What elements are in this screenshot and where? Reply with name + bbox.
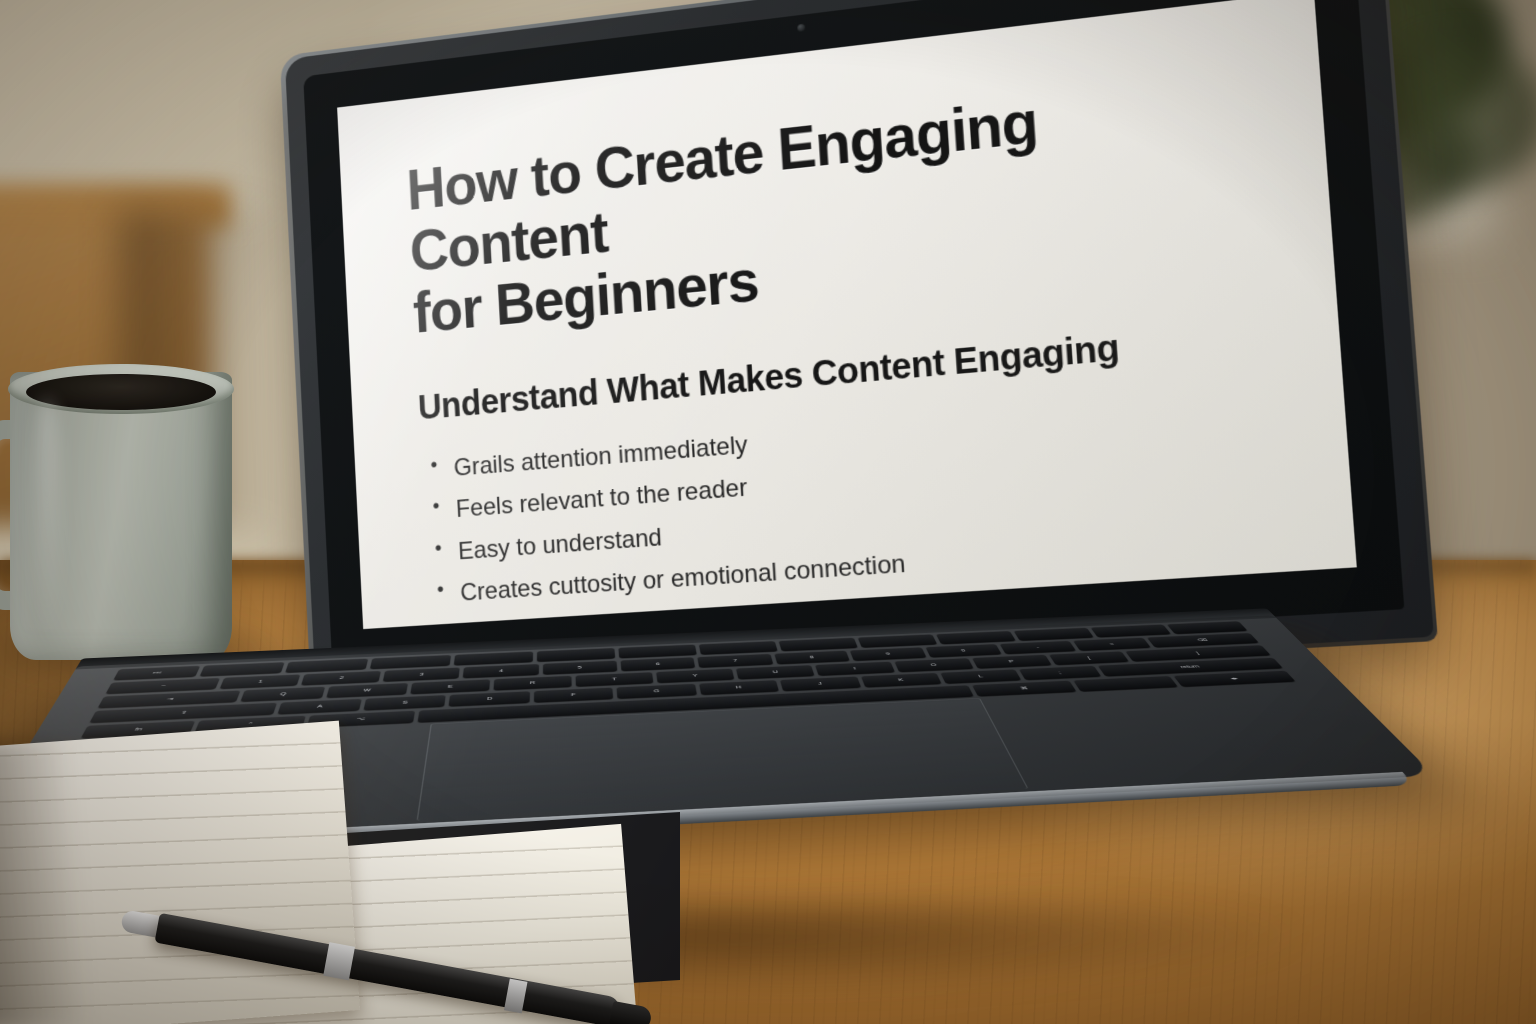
key[interactable]	[699, 641, 778, 655]
pen-end-cap	[609, 1001, 653, 1024]
key[interactable]: K	[860, 673, 941, 688]
key[interactable]	[1090, 624, 1171, 637]
key[interactable]: ;	[1019, 665, 1101, 680]
key[interactable]	[285, 658, 368, 672]
key[interactable]: D	[449, 691, 530, 707]
key[interactable]: Q	[241, 686, 325, 701]
key[interactable]	[537, 648, 615, 662]
key[interactable]: A	[277, 699, 362, 715]
key[interactable]: [	[1049, 651, 1130, 665]
key[interactable]: 9	[850, 647, 926, 661]
key[interactable]: -	[999, 641, 1076, 655]
key[interactable]	[936, 631, 1016, 644]
key[interactable]: 7	[698, 654, 774, 668]
key[interactable]: T	[576, 672, 654, 687]
key[interactable]	[618, 644, 696, 658]
key[interactable]: U	[736, 665, 815, 680]
key[interactable]	[1167, 621, 1248, 634]
laptop-screen[interactable]: How to Create Engaging Content for Begin…	[337, 0, 1357, 629]
slide-title: How to Create Engaging Content for Begin…	[405, 74, 1188, 345]
key[interactable]: S	[363, 695, 446, 711]
key[interactable]: 6	[621, 657, 696, 671]
key[interactable]	[779, 637, 858, 651]
key[interactable]: L	[940, 669, 1022, 684]
key[interactable]: Y	[656, 668, 734, 683]
key[interactable]: J	[780, 676, 861, 691]
key[interactable]: I	[815, 661, 894, 675]
key[interactable]: O	[894, 658, 974, 672]
key[interactable]: W	[326, 683, 408, 698]
bullet-list: Grails attention immediately Feels relev…	[420, 381, 1290, 629]
key[interactable]: 8	[774, 650, 850, 664]
key[interactable]	[858, 634, 938, 648]
key[interactable]: P	[972, 654, 1052, 668]
key[interactable]: E	[410, 679, 490, 694]
key[interactable]: H	[699, 680, 779, 695]
key[interactable]	[370, 655, 451, 669]
presentation-slide: How to Create Engaging Content for Begin…	[337, 0, 1357, 629]
key[interactable]: 1	[220, 674, 301, 689]
key[interactable]: =	[1073, 637, 1151, 650]
screen-bezel: How to Create Engaging Content for Begin…	[303, 0, 1404, 671]
key[interactable]: 2	[301, 671, 380, 686]
key[interactable]: F	[534, 687, 614, 702]
key[interactable]: 4	[463, 664, 539, 678]
key[interactable]: G	[617, 683, 697, 698]
key[interactable]: 3	[383, 667, 460, 682]
key[interactable]: 5	[543, 660, 618, 674]
key[interactable]	[1013, 627, 1093, 640]
webcam-icon	[797, 24, 805, 32]
key[interactable]: R	[493, 675, 571, 690]
key[interactable]	[200, 662, 285, 677]
key[interactable]: 0	[925, 644, 1002, 658]
key[interactable]	[454, 651, 533, 665]
laptop-lid: How to Create Engaging Content for Begin…	[285, 0, 1434, 698]
